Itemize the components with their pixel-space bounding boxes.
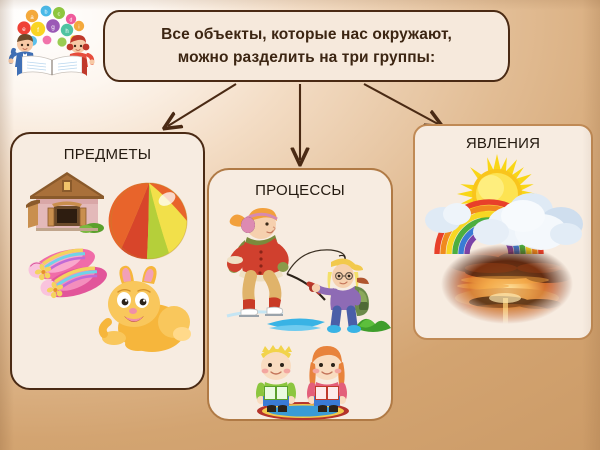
arrow-to-objects: [168, 84, 236, 126]
svg-text:i: i: [78, 24, 79, 30]
children-with-book-logo: a b c d e f g h i: [2, 2, 102, 82]
bunny-illustration: [94, 264, 192, 358]
group-label-phenomena: ЯВЛЕНИЯ: [415, 135, 591, 152]
svg-text:g: g: [51, 24, 55, 31]
title-callout: Все объекты, которые нас окружают, можно…: [103, 10, 510, 82]
svg-text:b: b: [45, 10, 48, 16]
group-box-processes[interactable]: ПРОЦЕССЫ: [207, 168, 393, 421]
sunset-sky-illustration: [439, 242, 575, 326]
group-box-phenomena[interactable]: ЯВЛЕНИЯ: [413, 124, 593, 340]
svg-text:e: e: [22, 26, 26, 33]
group-label-objects: ПРЕДМЕТЫ: [12, 146, 203, 163]
slide-canvas: a b c d e f g h i: [0, 0, 600, 450]
svg-text:d: d: [70, 17, 73, 23]
arrow-to-phenomena: [364, 84, 438, 124]
house-illustration: [24, 166, 110, 238]
group-label-processes: ПРОЦЕССЫ: [209, 182, 391, 199]
svg-text:h: h: [65, 29, 68, 35]
svg-text:f: f: [37, 27, 39, 34]
title-line-1: Все объекты, которые нас окружают,: [161, 27, 452, 43]
title-line-2: можно разделить на три группы:: [178, 50, 436, 66]
children-reading-illustration: [239, 340, 367, 420]
fishing-boy-illustration: [267, 232, 393, 342]
group-box-objects[interactable]: ПРЕДМЕТЫ: [10, 132, 205, 390]
svg-text:c: c: [58, 12, 61, 18]
